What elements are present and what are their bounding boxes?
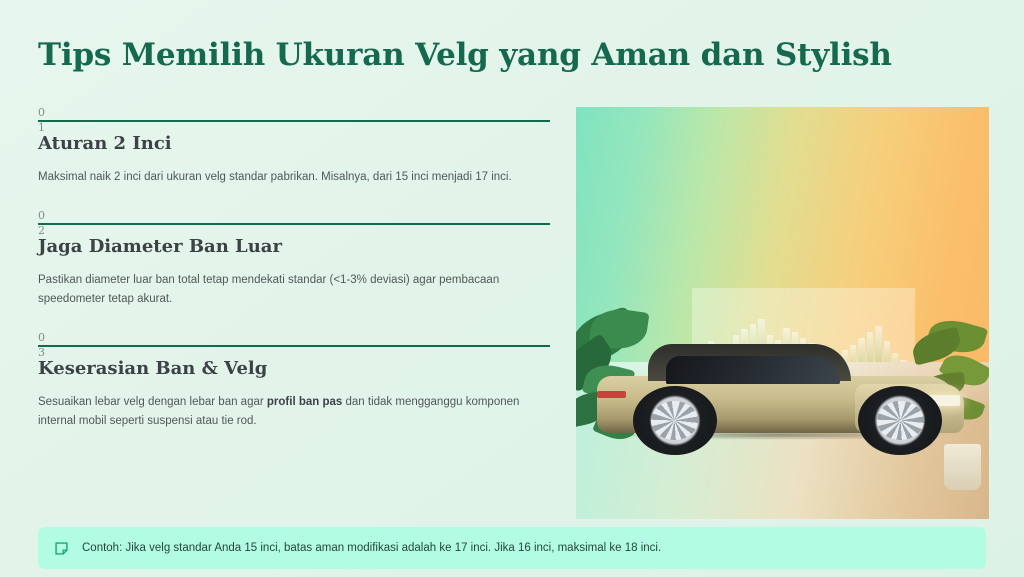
tip-number-top: 0 bbox=[38, 107, 550, 119]
tip-number-top: 0 bbox=[38, 210, 550, 222]
tip-body-text: Maksimal naik 2 inci dari ukuran velg st… bbox=[38, 171, 512, 183]
tips-column: 0 1 Aturan 2 Inci Maksimal naik 2 inci d… bbox=[38, 107, 550, 519]
tip-body: Pastikan diameter luar ban total tetap m… bbox=[38, 271, 538, 309]
tip-item: 0 3 Keserasian Ban & Velg Sesuaikan leba… bbox=[38, 332, 550, 431]
tip-body: Maksimal naik 2 inci dari ukuran velg st… bbox=[38, 168, 538, 187]
tip-heading: Jaga Diameter Ban Luar bbox=[38, 236, 550, 258]
tip-item: 0 2 Jaga Diameter Ban Luar Pastikan diam… bbox=[38, 210, 550, 309]
tip-body-text-before: Sesuaikan lebar velg dengan lebar ban ag… bbox=[38, 396, 267, 408]
slide-root: Tips Memilih Ukuran Velg yang Aman dan S… bbox=[0, 0, 1024, 577]
tip-number-top: 0 bbox=[38, 332, 550, 344]
tip-body-text: Pastikan diameter luar ban total tetap m… bbox=[38, 274, 499, 305]
tip-heading: Aturan 2 Inci bbox=[38, 133, 550, 155]
slide-content: 0 1 Aturan 2 Inci Maksimal naik 2 inci d… bbox=[38, 107, 986, 519]
tip-heading: Keserasian Ban & Velg bbox=[38, 358, 550, 380]
front-wheel bbox=[858, 386, 942, 455]
tip-item: 0 1 Aturan 2 Inci Maksimal naik 2 inci d… bbox=[38, 107, 550, 187]
sticky-note-icon bbox=[54, 541, 69, 556]
page-title: Tips Memilih Ukuran Velg yang Aman dan S… bbox=[38, 38, 986, 74]
rear-wheel bbox=[633, 386, 717, 455]
car-illustration bbox=[597, 341, 960, 465]
car-photo bbox=[576, 107, 989, 519]
example-callout: Contoh: Jika velg standar Anda 15 inci, … bbox=[38, 527, 986, 569]
tip-body: Sesuaikan lebar velg dengan lebar ban ag… bbox=[38, 393, 538, 431]
photo-column bbox=[550, 107, 989, 519]
callout-text: Contoh: Jika velg standar Anda 15 inci, … bbox=[82, 540, 661, 556]
taillight-icon bbox=[597, 391, 626, 398]
tip-body-emphasis: profil ban pas bbox=[267, 396, 342, 408]
car-windows bbox=[666, 356, 840, 383]
